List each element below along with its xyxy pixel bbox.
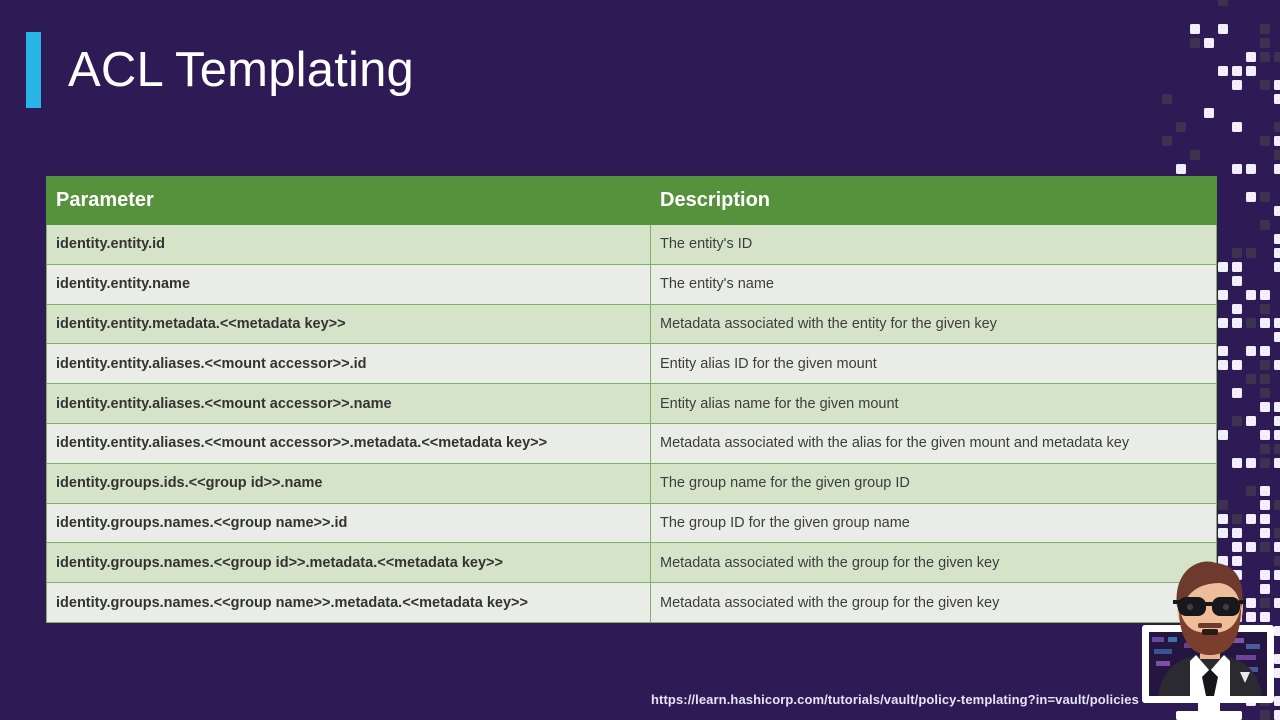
cell-description: Metadata associated with the alias for t…	[651, 423, 1217, 463]
table-row: identity.groups.names.<<group name>>.idT…	[47, 503, 1217, 543]
cell-parameter: identity.groups.names.<<group name>>.id	[47, 503, 651, 543]
footer-url[interactable]: https://learn.hashicorp.com/tutorials/va…	[651, 692, 1139, 707]
cell-parameter: identity.entity.id	[47, 225, 651, 265]
page-title: ACL Templating	[68, 32, 414, 108]
cell-description: The group name for the given group ID	[651, 463, 1217, 503]
title-block: ACL Templating	[26, 32, 414, 108]
table-head: Parameter Description	[47, 177, 1217, 225]
cell-description: The entity's name	[651, 264, 1217, 304]
acl-parameters-table: Parameter Description identity.entity.id…	[46, 176, 1216, 623]
cell-description: The entity's ID	[651, 225, 1217, 265]
cell-description: Entity alias name for the given mount	[651, 384, 1217, 424]
cell-description: Entity alias ID for the given mount	[651, 344, 1217, 384]
slide-canvas: ACL Templating Parameter Description ide…	[0, 0, 1280, 720]
table-row: identity.entity.aliases.<<mount accessor…	[47, 384, 1217, 424]
table-body: identity.entity.idThe entity's IDidentit…	[47, 225, 1217, 623]
cell-parameter: identity.entity.aliases.<<mount accessor…	[47, 384, 651, 424]
cell-parameter: identity.entity.metadata.<<metadata key>…	[47, 304, 651, 344]
table-row: identity.groups.names.<<group id>>.metad…	[47, 543, 1217, 583]
cell-parameter: identity.entity.aliases.<<mount accessor…	[47, 423, 651, 463]
table-row: identity.groups.names.<<group name>>.met…	[47, 583, 1217, 623]
column-header-parameter: Parameter	[47, 177, 651, 225]
parameters-table: Parameter Description identity.entity.id…	[46, 176, 1217, 623]
cell-description: Metadata associated with the group for t…	[651, 583, 1217, 623]
cell-description: Metadata associated with the entity for …	[651, 304, 1217, 344]
cell-description: Metadata associated with the group for t…	[651, 543, 1217, 583]
table-row: identity.entity.idThe entity's ID	[47, 225, 1217, 265]
cell-parameter: identity.groups.ids.<<group id>>.name	[47, 463, 651, 503]
table-row: identity.groups.ids.<<group id>>.nameThe…	[47, 463, 1217, 503]
table-header-row: Parameter Description	[47, 177, 1217, 225]
presenter-avatar-icon	[1140, 545, 1280, 720]
column-header-description: Description	[651, 177, 1217, 225]
cell-parameter: identity.entity.aliases.<<mount accessor…	[47, 344, 651, 384]
cell-parameter: identity.groups.names.<<group name>>.met…	[47, 583, 651, 623]
table-row: identity.entity.aliases.<<mount accessor…	[47, 423, 1217, 463]
title-accent-bar	[26, 32, 41, 108]
cell-parameter: identity.entity.name	[47, 264, 651, 304]
table-row: identity.entity.aliases.<<mount accessor…	[47, 344, 1217, 384]
cell-parameter: identity.groups.names.<<group id>>.metad…	[47, 543, 651, 583]
table-row: identity.entity.nameThe entity's name	[47, 264, 1217, 304]
table-row: identity.entity.metadata.<<metadata key>…	[47, 304, 1217, 344]
cell-description: The group ID for the given group name	[651, 503, 1217, 543]
